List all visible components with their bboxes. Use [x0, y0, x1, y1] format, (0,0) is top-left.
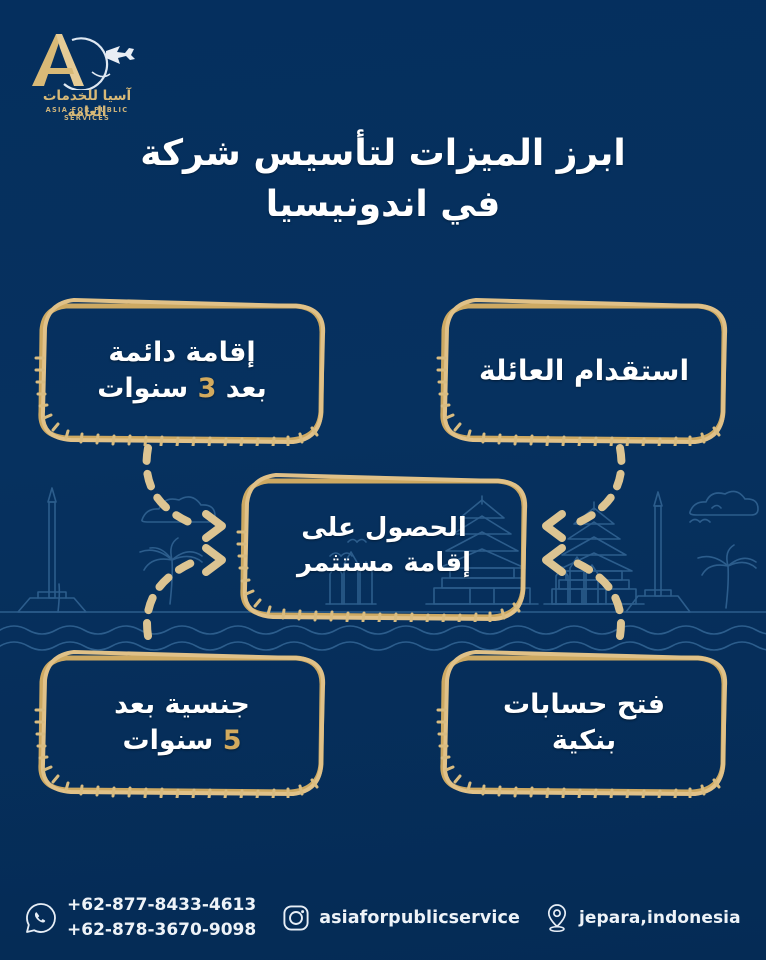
card-line-2-prefix: بعد	[216, 373, 266, 404]
benefit-card-bank-accounts[interactable]: فتح حسابات بنكية	[434, 648, 734, 798]
benefit-card-label: جنسية بعد 5 سنوات	[32, 648, 332, 798]
card-line-1: استقدام العائلة	[479, 352, 689, 390]
arrowhead-tl	[206, 514, 222, 538]
location-contact[interactable]: jepara,indonesia	[544, 903, 741, 933]
brand-logo: آسيا للخدمات العامة ASIA FOR PUBLIC SERV…	[14, 28, 159, 120]
card-line-2: بعد 3 سنوات	[97, 371, 266, 407]
benefit-card-label: فتح حسابات بنكية	[434, 648, 734, 798]
card-line-2-suffix: سنوات	[97, 373, 197, 404]
benefit-card-label: الحصول على إقامة مستثمر	[234, 470, 534, 622]
instagram-contact[interactable]: asiaforpublicservice	[282, 904, 520, 932]
poster-canvas: آسيا للخدمات العامة ASIA FOR PUBLIC SERV…	[0, 0, 766, 960]
arrow-path-bl	[147, 560, 198, 636]
card-line-2: إقامة مستثمر	[297, 546, 471, 581]
card-line-2: بنكية	[552, 723, 616, 759]
plane-trail-icon	[92, 72, 110, 77]
airplane-icon	[106, 46, 135, 64]
instagram-handle: asiaforpublicservice	[319, 908, 520, 928]
card-line-2: 5 سنوات	[122, 723, 241, 759]
arrowhead-bl	[206, 548, 222, 572]
card-line-1: جنسية بعد	[114, 687, 250, 723]
arrow-path-br	[570, 560, 621, 636]
location-text: jepara,indonesia	[579, 908, 741, 928]
phone-number-2: +62-878-3670-9098	[67, 918, 256, 943]
contact-footer: +62-877-8433-4613 +62-878-3670-9098 asia…	[0, 876, 766, 960]
arrowhead-tr	[546, 514, 562, 538]
benefit-card-label: استقدام العائلة	[434, 296, 734, 446]
logo-english-text: ASIA FOR PUBLIC SERVICES	[22, 106, 152, 122]
logo-letter-a-icon	[32, 34, 84, 86]
arrowhead-br	[546, 548, 562, 572]
arrow-path-tr	[570, 448, 621, 526]
instagram-icon	[282, 904, 310, 932]
benefit-card-permanent-residency[interactable]: إقامة دائمة بعد 3 سنوات	[32, 296, 332, 446]
phone-numbers: +62-877-8433-4613 +62-878-3670-9098	[67, 893, 256, 942]
arrow-path-tl	[147, 448, 198, 526]
card-line-1: إقامة دائمة	[108, 335, 255, 371]
benefit-card-investor-residency[interactable]: الحصول على إقامة مستثمر	[234, 470, 534, 622]
map-pin-icon	[544, 903, 570, 933]
whatsapp-icon	[24, 901, 58, 935]
card-line-1: فتح حسابات	[503, 687, 665, 723]
logo-mark-icon	[14, 28, 159, 90]
page-title: ابرز الميزات لتأسيس شركة في اندونيسيا	[60, 128, 706, 230]
card-line-1: الحصول على	[301, 511, 467, 546]
benefit-card-label: إقامة دائمة بعد 3 سنوات	[32, 296, 332, 446]
phone-number-1: +62-877-8433-4613	[67, 893, 256, 918]
card-line-2-number: 5	[223, 725, 242, 756]
title-line-2: في اندونيسيا	[60, 179, 706, 230]
title-line-1: ابرز الميزات لتأسيس شركة	[60, 128, 706, 179]
card-line-2-suffix: سنوات	[122, 725, 222, 756]
benefit-card-citizenship[interactable]: جنسية بعد 5 سنوات	[32, 648, 332, 798]
card-line-2-number: 3	[198, 373, 217, 404]
whatsapp-contact[interactable]: +62-877-8433-4613 +62-878-3670-9098	[24, 893, 256, 942]
benefit-card-family-sponsorship[interactable]: استقدام العائلة	[434, 296, 734, 446]
